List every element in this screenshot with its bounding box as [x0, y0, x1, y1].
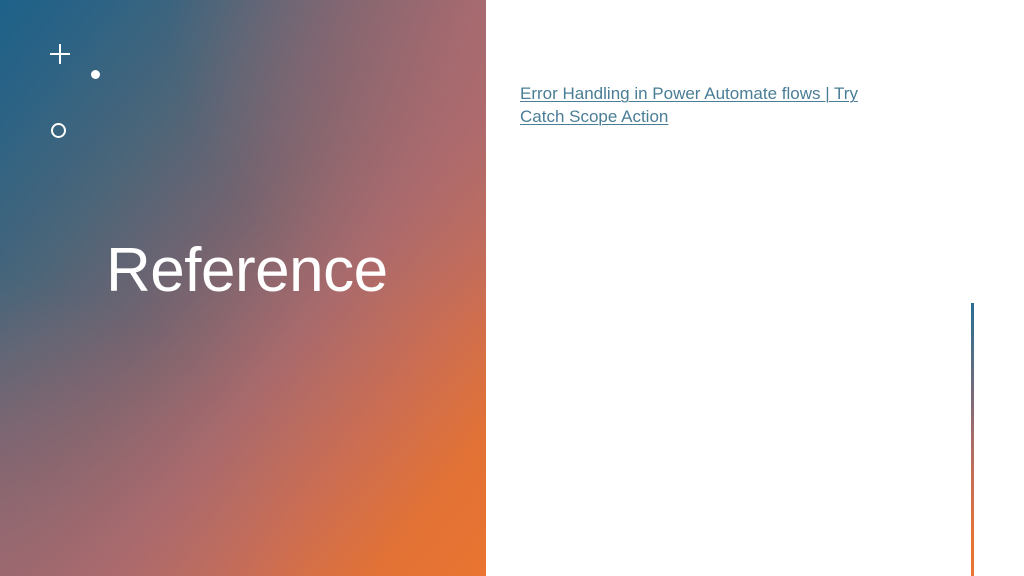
page-title: Reference [106, 238, 388, 303]
circle-outline-icon [51, 123, 66, 138]
slide-canvas: Reference Error Handling in Power Automa… [0, 0, 1024, 576]
vertical-accent-line [971, 303, 974, 576]
reference-list: Error Handling in Power Automate flows |… [520, 82, 900, 140]
list-item: Error Handling in Power Automate flows |… [520, 82, 900, 128]
plus-icon [50, 44, 70, 64]
content-panel: Error Handling in Power Automate flows |… [486, 0, 1024, 576]
title-gradient-panel: Reference [0, 0, 486, 576]
dot-icon [91, 70, 100, 79]
reference-hyperlink[interactable]: Error Handling in Power Automate flows |… [520, 84, 858, 126]
